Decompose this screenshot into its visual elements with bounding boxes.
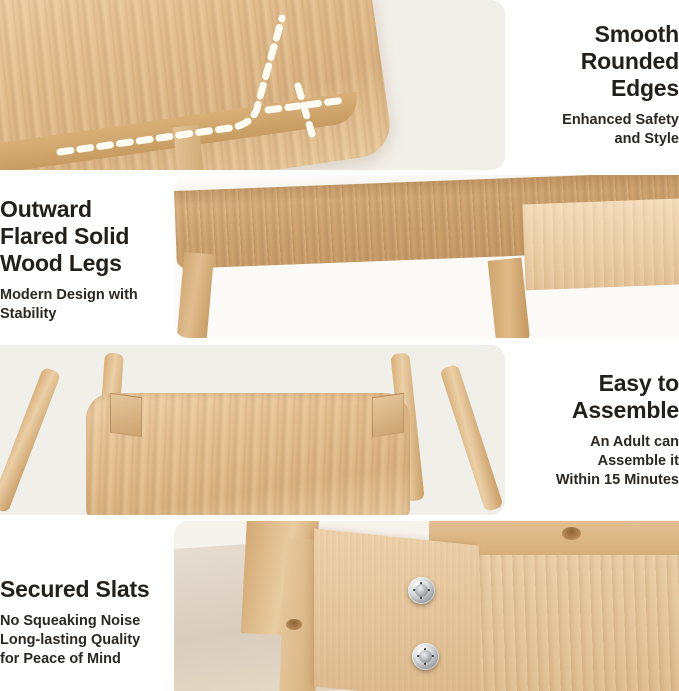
feature-text-easy-to-assemble: Easy to Assemble An Adult can Assemble i… [513, 345, 679, 515]
screw-slot-horizontal [417, 655, 434, 657]
screw-slot-vertical [420, 582, 422, 599]
headline-line: Outward [0, 196, 92, 222]
headline-line: Edges [611, 75, 679, 101]
screw-slot-vertical [424, 648, 426, 665]
subtext-line: and Style [615, 131, 679, 147]
feature-headline: Smooth Rounded Edges [581, 21, 679, 102]
subtext-line: An Adult can [590, 434, 679, 450]
screw-slot-horizontal [413, 589, 430, 591]
feature-image-secured-slats [174, 521, 679, 691]
feature-headline: Secured Slats [0, 576, 150, 603]
feature-subtext: An Adult can Assemble it Within 15 Minut… [556, 424, 679, 490]
feature-subtext: Modern Design with Stability [0, 277, 138, 324]
headline-line: Secured Slats [0, 576, 150, 602]
pre-drilled-hole-1 [286, 619, 302, 630]
feature-subtext: Enhanced Safety and Style [562, 102, 679, 149]
subtext-line: No Squeaking Noise [0, 613, 140, 629]
headline-line: Easy to [599, 370, 679, 396]
subtext-line: Assemble it [598, 453, 679, 469]
subtext-line: Enhanced Safety [562, 112, 679, 128]
feature-text-outward-flared-solid-wood-legs: Outward Flared Solid Wood Legs Modern De… [0, 190, 172, 330]
table-leg-1 [0, 367, 61, 514]
headline-line: Rounded [581, 48, 679, 74]
feature-text-secured-slats: Secured Slats No Squeaking Noise Long-la… [0, 560, 172, 685]
headline-line: Assemble [572, 397, 679, 423]
headline-line: Smooth [595, 21, 679, 47]
subtext-line: Modern Design with [0, 287, 138, 303]
slat-mounting-bracket [314, 528, 479, 691]
table-leg-4 [439, 364, 503, 513]
headline-line: Wood Legs [0, 250, 122, 276]
feature-subtext: No Squeaking Noise Long-lasting Quality … [0, 603, 140, 669]
subtext-line: Long-lasting Quality [0, 632, 140, 648]
apron-panel-right [522, 198, 679, 291]
subtext-line: for Peace of Mind [0, 651, 121, 667]
corner-bracket-left [110, 393, 142, 437]
pre-drilled-hole-2 [562, 527, 581, 540]
subtext-line: Within 15 Minutes [556, 472, 679, 488]
feature-text-smooth-rounded-edges: Smooth Rounded Edges Enhanced Safety and… [513, 0, 679, 170]
feature-image-smooth-rounded-edges [0, 0, 505, 170]
chrome-bolt-top [408, 577, 435, 604]
chrome-bolt-bottom [412, 643, 439, 670]
infographic-sheet: Smooth Rounded Edges Enhanced Safety and… [0, 0, 679, 691]
feature-image-easy-to-assemble [0, 345, 505, 515]
feature-headline: Outward Flared Solid Wood Legs [0, 196, 129, 277]
subtext-line: Stability [0, 306, 56, 322]
corner-bracket-right [372, 393, 404, 437]
headline-line: Flared Solid [0, 223, 129, 249]
feature-image-outward-flared-solid-wood-legs [174, 175, 679, 338]
rounded-edge-dashed-overlay [0, 0, 505, 170]
feature-headline: Easy to Assemble [572, 370, 679, 424]
